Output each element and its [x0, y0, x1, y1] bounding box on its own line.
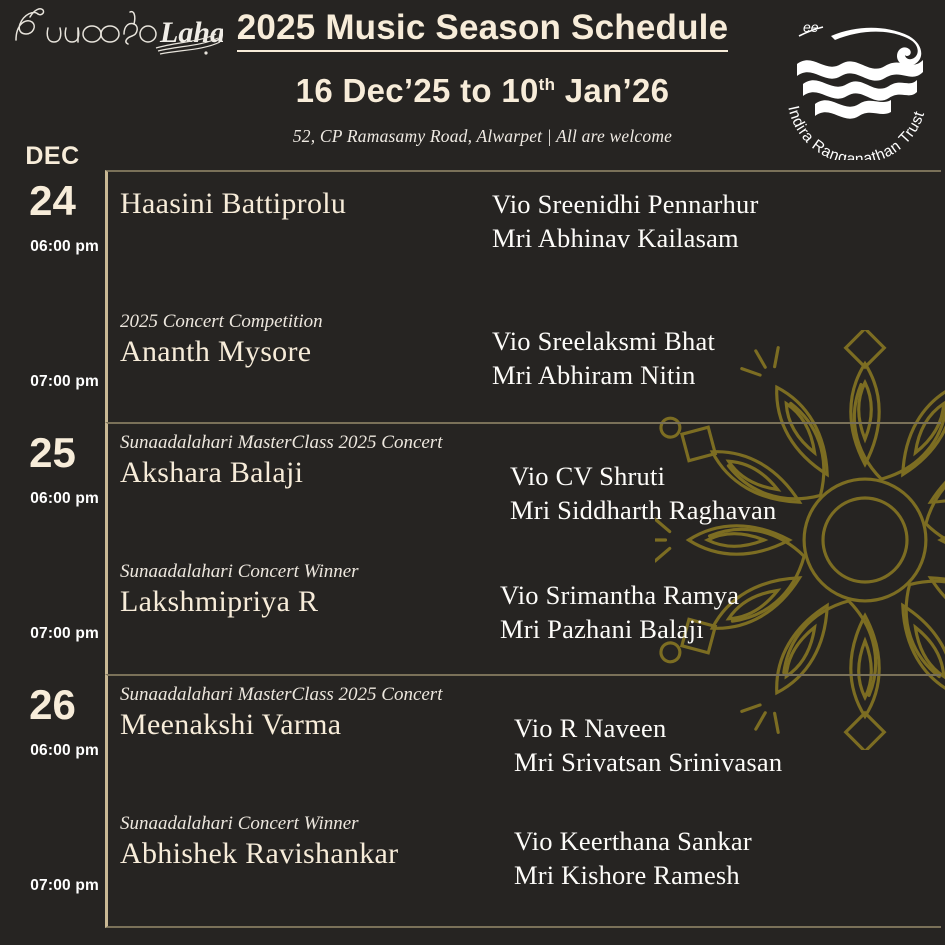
main-artist-name: Haasini Battiprolu [120, 186, 492, 221]
accompanist-line: Vio Srimantha Ramya [500, 579, 941, 613]
main-artist-name: Akshara Balaji [120, 455, 492, 490]
accompanist-line: Vio CV Shruti [510, 460, 941, 494]
page-title: 2025 Music Season Schedule [237, 8, 729, 52]
main-artist-name: Lakshmipriya R [120, 584, 492, 619]
schedule-day-row: 2506:00 pm07:00 pmSunaadalahari MasterCl… [0, 422, 945, 674]
accompanists-block: Vio R NaveenMri Srivatsan Srinivasan [492, 684, 941, 801]
day-number: 26 [0, 684, 105, 726]
indira-ranganathan-trust-logo-icon: ee Indira Ranganathan Trust [773, 2, 941, 160]
day-gutter: DEC2406:00 pm07:00 pm [0, 170, 105, 422]
slot-main-artist-block: Sunaadalahari MasterClass 2025 ConcertAk… [120, 432, 492, 549]
accompanists-block: Vio Sreelaksmi BhatMri Abhiram Nitin [492, 311, 941, 422]
accompanists-block: Vio Keerthana SankarMri Kishore Ramesh [492, 813, 941, 926]
accompanist-line: Vio Keerthana Sankar [514, 825, 941, 859]
slot-main-artist-block: Sunaadalahari Concert WinnerLakshmipriya… [120, 561, 492, 674]
slot-subtitle: Sunaadalahari MasterClass 2025 Concert [120, 432, 492, 454]
day-gutter: 2606:00 pm07:00 pm [0, 674, 105, 928]
concert-slot[interactable]: Sunaadalahari Concert WinnerLakshmipriya… [108, 549, 941, 674]
slot-time: 07:00 pm [0, 625, 99, 643]
schedule-day-row: 2606:00 pm07:00 pmSunaadalahari MasterCl… [0, 674, 945, 928]
accompanist-line: Mri Kishore Ramesh [514, 859, 941, 893]
accompanist-line: Vio Sreelaksmi Bhat [492, 325, 941, 359]
slot-time: 06:00 pm [0, 742, 99, 760]
concert-slot[interactable]: Haasini BattiproluVio Sreenidhi Pennarhu… [108, 172, 941, 297]
slot-main-artist-block: Sunaadalahari Concert WinnerAbhishek Rav… [120, 813, 492, 926]
sunaada-lahari-logo-icon: Lahari [8, 4, 223, 56]
concert-slot[interactable]: Sunaadalahari MasterClass 2025 ConcertMe… [108, 676, 941, 801]
day-panel: Sunaadalahari MasterClass 2025 ConcertAk… [105, 422, 941, 674]
accompanist-line: Mri Abhinav Kailasam [492, 222, 941, 256]
accompanists-block: Vio Srimantha RamyaMri Pazhani Balaji [492, 561, 941, 674]
slot-subtitle: Sunaadalahari Concert Winner [120, 813, 492, 835]
concert-slot[interactable]: 2025 Concert CompetitionAnanth MysoreVio… [108, 297, 941, 422]
day-number: 24 [0, 180, 105, 222]
accompanist-line: Vio Sreenidhi Pennarhur [492, 188, 941, 222]
slot-main-artist-block: Sunaadalahari MasterClass 2025 ConcertMe… [120, 684, 492, 801]
slot-time: 07:00 pm [0, 373, 99, 391]
accompanist-line: Vio R Naveen [514, 712, 941, 746]
main-artist-name: Ananth Mysore [120, 334, 492, 369]
poster-header: Lahari 2025 Music Season Schedule 16 Dec… [0, 0, 945, 170]
concert-slot[interactable]: Sunaadalahari MasterClass 2025 ConcertAk… [108, 424, 941, 549]
slot-main-artist-block: Haasini Battiprolu [120, 186, 492, 297]
day-panel: Sunaadalahari MasterClass 2025 ConcertMe… [105, 674, 941, 928]
date-range: 16 Dec’25 to 10th Jan’26 [205, 72, 760, 110]
date-range-prefix: 16 Dec’25 to 10 [296, 72, 539, 109]
accompanist-line: Mri Srivatsan Srinivasan [514, 746, 941, 780]
accompanist-line: Mri Siddharth Raghavan [510, 494, 941, 528]
main-artist-name: Meenakshi Varma [120, 707, 492, 742]
month-label: DEC [0, 142, 105, 171]
slot-time: 07:00 pm [0, 877, 99, 895]
concert-slot[interactable]: Sunaadalahari Concert WinnerAbhishek Rav… [108, 801, 941, 926]
slot-subtitle: 2025 Concert Competition [120, 311, 492, 333]
slot-subtitle: Sunaadalahari MasterClass 2025 Concert [120, 684, 492, 706]
slot-time: 06:00 pm [0, 238, 99, 256]
accompanist-line: Mri Abhiram Nitin [492, 359, 941, 393]
schedule-poster: Lahari 2025 Music Season Schedule 16 Dec… [0, 0, 945, 945]
accompanists-block: Vio CV ShrutiMri Siddharth Raghavan [492, 432, 941, 549]
day-panel: Haasini BattiproluVio Sreenidhi Pennarhu… [105, 170, 941, 422]
slot-main-artist-block: 2025 Concert CompetitionAnanth Mysore [120, 311, 492, 422]
schedule-day-row: DEC2406:00 pm07:00 pmHaasini BattiproluV… [0, 170, 945, 422]
title-block: 2025 Music Season Schedule 16 Dec’25 to … [205, 8, 760, 147]
accompanists-block: Vio Sreenidhi PennarhurMri Abhinav Kaila… [492, 186, 941, 297]
schedule-grid: DEC2406:00 pm07:00 pmHaasini BattiproluV… [0, 170, 945, 928]
day-gutter: 2506:00 pm07:00 pm [0, 422, 105, 674]
venue-line: 52, CP Ramasamy Road, Alwarpet | All are… [205, 126, 760, 147]
date-range-suffix: Jan’26 [555, 72, 669, 109]
slot-time: 06:00 pm [0, 490, 99, 508]
slot-subtitle: Sunaadalahari Concert Winner [120, 561, 492, 583]
day-number: 25 [0, 432, 105, 474]
main-artist-name: Abhishek Ravishankar [120, 836, 492, 871]
date-range-ordinal: th [539, 75, 556, 94]
accompanist-line: Mri Pazhani Balaji [500, 613, 941, 647]
